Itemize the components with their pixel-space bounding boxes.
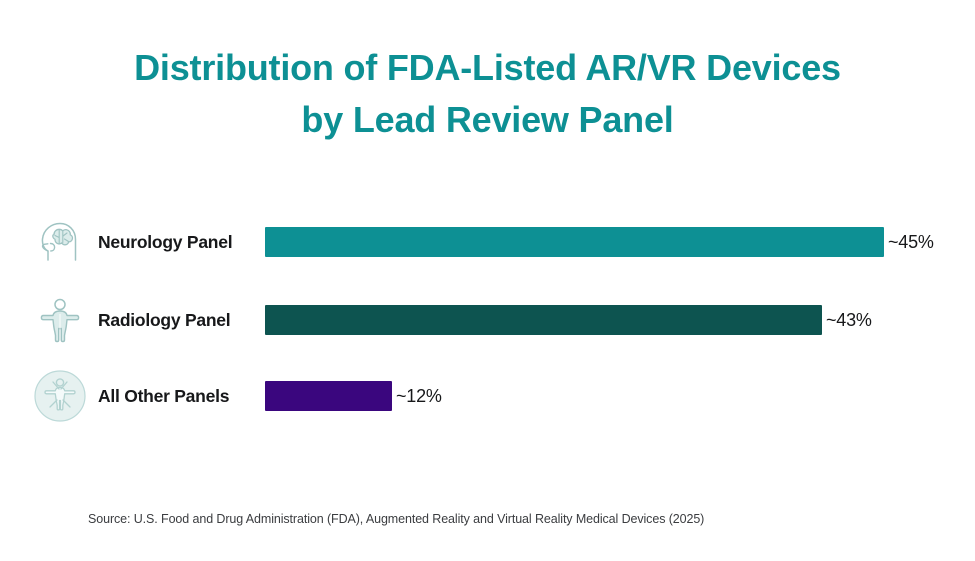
bar-track-radiology: ~43%	[265, 292, 872, 348]
bar-all-other	[265, 381, 392, 411]
bar-row-radiology: Radiology Panel ~43%	[0, 292, 975, 348]
anatomy-circle-icon	[32, 368, 88, 424]
bar-radiology	[265, 305, 822, 335]
bar-value-neurology: ~45%	[888, 232, 934, 253]
bar-value-radiology: ~43%	[826, 310, 872, 331]
chart-canvas: Distribution of FDA-Listed AR/VR Devices…	[0, 0, 975, 561]
bar-value-all-other: ~12%	[396, 386, 442, 407]
title-line-2: by Lead Review Panel	[0, 94, 975, 146]
human-body-icon	[32, 292, 88, 348]
bar-label-radiology: Radiology Panel	[98, 292, 230, 348]
bar-track-neurology: ~45%	[265, 214, 934, 270]
source-note: Source: U.S. Food and Drug Administratio…	[88, 512, 704, 526]
page-title: Distribution of FDA-Listed AR/VR Devices…	[0, 42, 975, 146]
bar-label-all-other: All Other Panels	[98, 368, 229, 424]
bar-track-all-other: ~12%	[265, 368, 442, 424]
bar-row-neurology: Neurology Panel ~45%	[0, 214, 975, 270]
bar-neurology	[265, 227, 884, 257]
bar-row-all-other: All Other Panels ~12%	[0, 368, 975, 424]
head-brain-icon	[32, 214, 88, 270]
bar-chart-plot-area: Neurology Panel ~45% Radiology Panel ~43…	[0, 206, 975, 436]
title-line-1: Distribution of FDA-Listed AR/VR Devices	[0, 42, 975, 94]
bar-label-neurology: Neurology Panel	[98, 214, 232, 270]
